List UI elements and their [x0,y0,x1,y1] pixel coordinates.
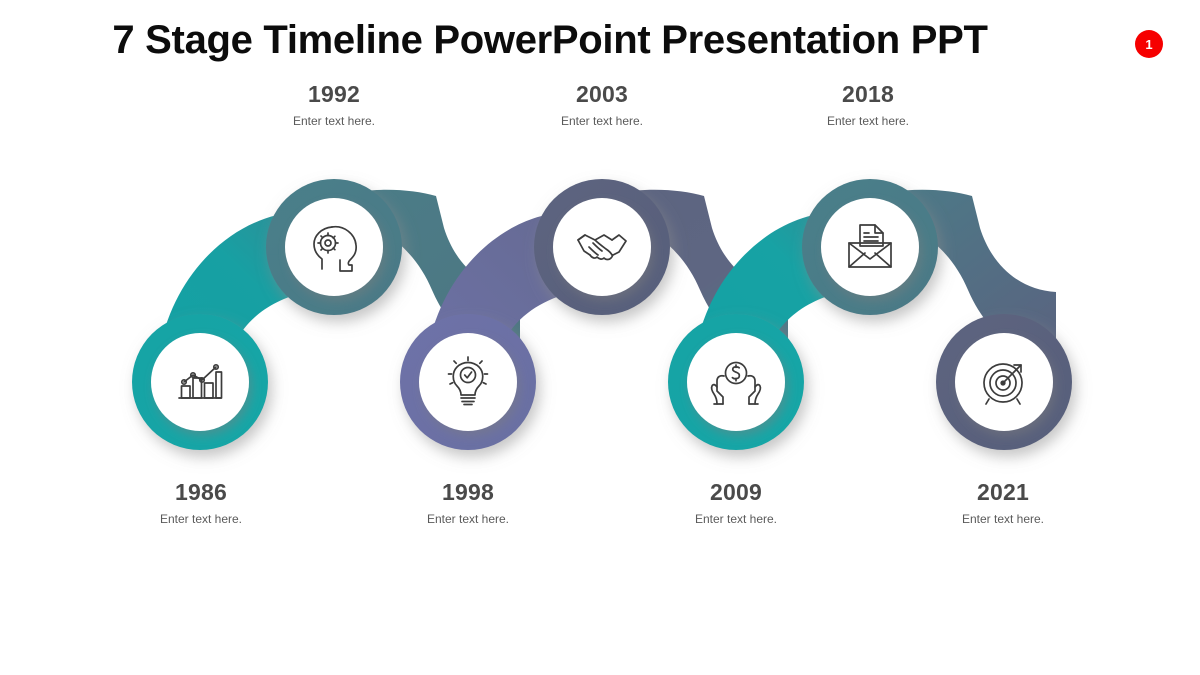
connector-6-7 [836,190,1056,353]
stage-year-1992: 1992 [214,82,454,107]
timeline-node-1992[interactable] [266,179,402,315]
slide-number-badge: 1 [1135,30,1163,58]
connector-2-3 [300,190,520,353]
stage-text-2009: Enter text here. [616,512,856,526]
page-title: 7 Stage Timeline PowerPoint Presentation… [0,18,1100,63]
stage-label-1986: 1986 Enter text here. [81,480,321,527]
stage-label-2009: 2009 Enter text here. [616,480,856,527]
target-arrow-icon [984,364,1022,404]
timeline-node-2003[interactable] [534,179,670,315]
stage-text-1986: Enter text here. [81,512,321,526]
stage-year-2018: 2018 [748,82,988,107]
timeline-node-1986[interactable] [132,314,268,450]
bar-chart-growth-icon [179,365,222,398]
lightbulb-check-icon [449,357,488,405]
stage-label-1998: 1998 Enter text here. [348,480,588,527]
timeline-nodes [132,179,1072,450]
connector-4-5 [568,190,788,353]
head-gear-icon [314,227,356,271]
stage-year-2021: 2021 [883,480,1123,505]
stage-label-2018: 2018 Enter text here. [748,82,988,129]
timeline-node-2009[interactable] [668,314,804,450]
stage-label-2021: 2021 Enter text here. [883,480,1123,527]
connector-1-2 [159,212,368,416]
stage-text-1992: Enter text here. [214,114,454,128]
stage-text-2018: Enter text here. [748,114,988,128]
stage-label-1992: 1992 Enter text here. [214,82,454,129]
connector-bands [159,190,1056,416]
handshake-icon [578,235,626,260]
stage-year-1998: 1998 [348,480,588,505]
connector-3-4 [427,212,636,416]
stage-year-2009: 2009 [616,480,856,505]
slide-canvas: 7 Stage Timeline PowerPoint Presentation… [0,0,1200,675]
envelope-letter-icon [849,225,891,267]
stage-year-2003: 2003 [482,82,722,107]
hands-money-icon [712,363,761,405]
stage-text-2003: Enter text here. [482,114,722,128]
timeline-node-1998[interactable] [400,314,536,450]
timeline-node-2018[interactable] [802,179,938,315]
stage-text-2021: Enter text here. [883,512,1123,526]
stage-label-2003: 2003 Enter text here. [482,82,722,129]
connector-5-6 [695,212,904,416]
stage-text-1998: Enter text here. [348,512,588,526]
timeline-node-2021[interactable] [936,314,1072,450]
stage-year-1986: 1986 [81,480,321,505]
